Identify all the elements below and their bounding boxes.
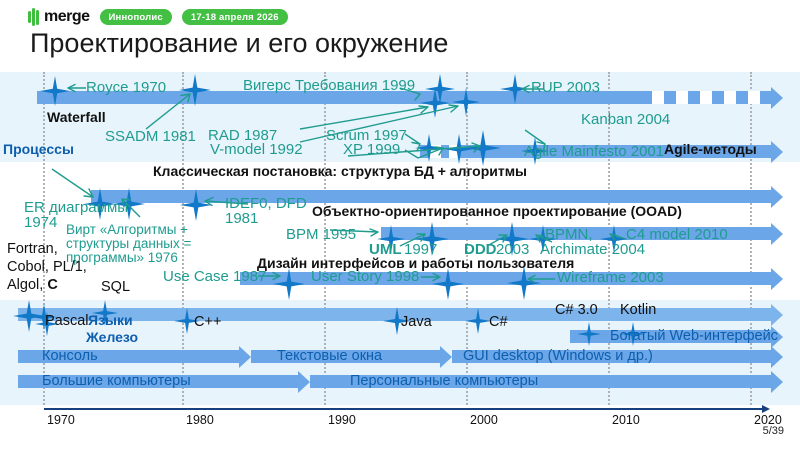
milestone-star-rup: [500, 74, 530, 104]
label-royce: Royce 1970: [86, 80, 166, 96]
badge-location: Иннополис: [100, 9, 172, 25]
axis-line: [44, 408, 762, 410]
axis-tick-1990: 1990: [328, 413, 356, 427]
label-gui-desktop: GUI desktop (Windows и др.): [463, 349, 653, 364]
slide: merge Иннополис 17-18 апреля 2026 Проект…: [0, 0, 800, 450]
label-rich-web: Богатый Web-интерфейс: [610, 329, 778, 344]
milestone-star-ssadm: [179, 74, 211, 106]
label-csharp30: C# 3.0: [555, 303, 598, 318]
label-waterfall: Waterfall: [47, 110, 106, 125]
milestone-star-csharp: [465, 308, 491, 334]
conference-header: merge Иннополис 17-18 апреля 2026: [28, 8, 288, 26]
label-kotlin: Kotlin: [620, 303, 656, 318]
label-idef0-l2: 1981: [225, 211, 258, 227]
label-xp: XP 1999: [343, 142, 400, 158]
milestone-star-wiegers: [425, 74, 455, 104]
milestone-star-userstory: [432, 268, 464, 300]
label-cpp: C++: [194, 315, 221, 330]
label-er-l2: 1974: [24, 215, 57, 231]
label-processes: Процессы: [3, 142, 74, 157]
milestone-star-idef0: [180, 189, 212, 221]
axis-tick-1970: 1970: [47, 413, 75, 427]
label-c-lang: C: [47, 277, 57, 293]
label-fortran-l3: Algol, C: [7, 278, 58, 293]
label-ooad: Объектно-ориентированное проектирование …: [312, 204, 682, 219]
label-rup: RUP 2003: [531, 80, 600, 96]
label-usecase: Use Case 1987: [163, 269, 266, 285]
milestone-star-agile-manifesto: [465, 130, 501, 166]
page-number: 5/39: [763, 425, 784, 437]
logo-wordmark: merge: [44, 8, 90, 26]
label-fortran-l2: Cobol, PL/1,: [7, 260, 87, 275]
label-console: Консоль: [42, 349, 98, 364]
label-text-windows: Текстовые окна: [277, 349, 382, 364]
label-wireframe: Wireframe 2003: [557, 270, 664, 286]
label-fortran-l1: Fortran,: [7, 242, 58, 257]
label-vmodel: V-model 1992: [210, 142, 303, 158]
axis-arrow-icon: [762, 405, 770, 413]
label-agile-methods: Agile-методы: [664, 142, 757, 157]
label-sql: SQL: [101, 280, 130, 295]
timeline-chart: Royce 1970 Вигерс Требования 1999 RUP 20…: [0, 72, 800, 405]
milestone-star-scrum: [415, 134, 443, 162]
label-ssadm: SSADM 1981: [105, 129, 196, 145]
label-bpm: BPM 1995: [286, 227, 356, 243]
label-kanban: Kanban 2004: [581, 112, 670, 128]
merge-logo: merge: [28, 8, 90, 26]
milestone-star-csharp30: [577, 322, 601, 346]
label-hardware: Железо: [86, 330, 138, 345]
axis-tick-2010: 2010: [612, 413, 640, 427]
label-languages: Языки: [88, 313, 133, 328]
label-csharp: C#: [489, 315, 508, 330]
merge-leaf-icon: [28, 8, 42, 26]
label-classic-db: Классическая постановка: структура БД + …: [153, 164, 527, 179]
milestone-star-vmodel: [452, 88, 480, 116]
label-personal-computers: Персональные компьютеры: [350, 374, 538, 389]
milestone-star-royce: [40, 76, 70, 106]
label-mainframes: Большие компьютеры: [42, 374, 191, 389]
label-wiegers: Вигерс Требования 1999: [243, 78, 415, 94]
label-userstory: User Story 1998: [311, 269, 419, 285]
label-agile-manifesto: Agile Mainfesto 2001: [524, 144, 664, 160]
label-algol: Algol,: [7, 277, 43, 293]
time-axis: 1970 1980 1990 2000 2010 2020: [0, 405, 800, 450]
milestone-star-usecase: [273, 268, 305, 300]
axis-tick-2000: 2000: [470, 413, 498, 427]
axis-tick-1980: 1980: [186, 413, 214, 427]
milestone-star-wireframe: [507, 266, 541, 300]
badge-date: 17-18 апреля 2026: [182, 9, 288, 25]
label-c4model: C4 model 2010: [626, 227, 728, 243]
label-pascal: Pascal: [45, 314, 89, 329]
label-java: Java: [401, 315, 432, 330]
page-title: Проектирование и его окружение: [30, 28, 448, 59]
